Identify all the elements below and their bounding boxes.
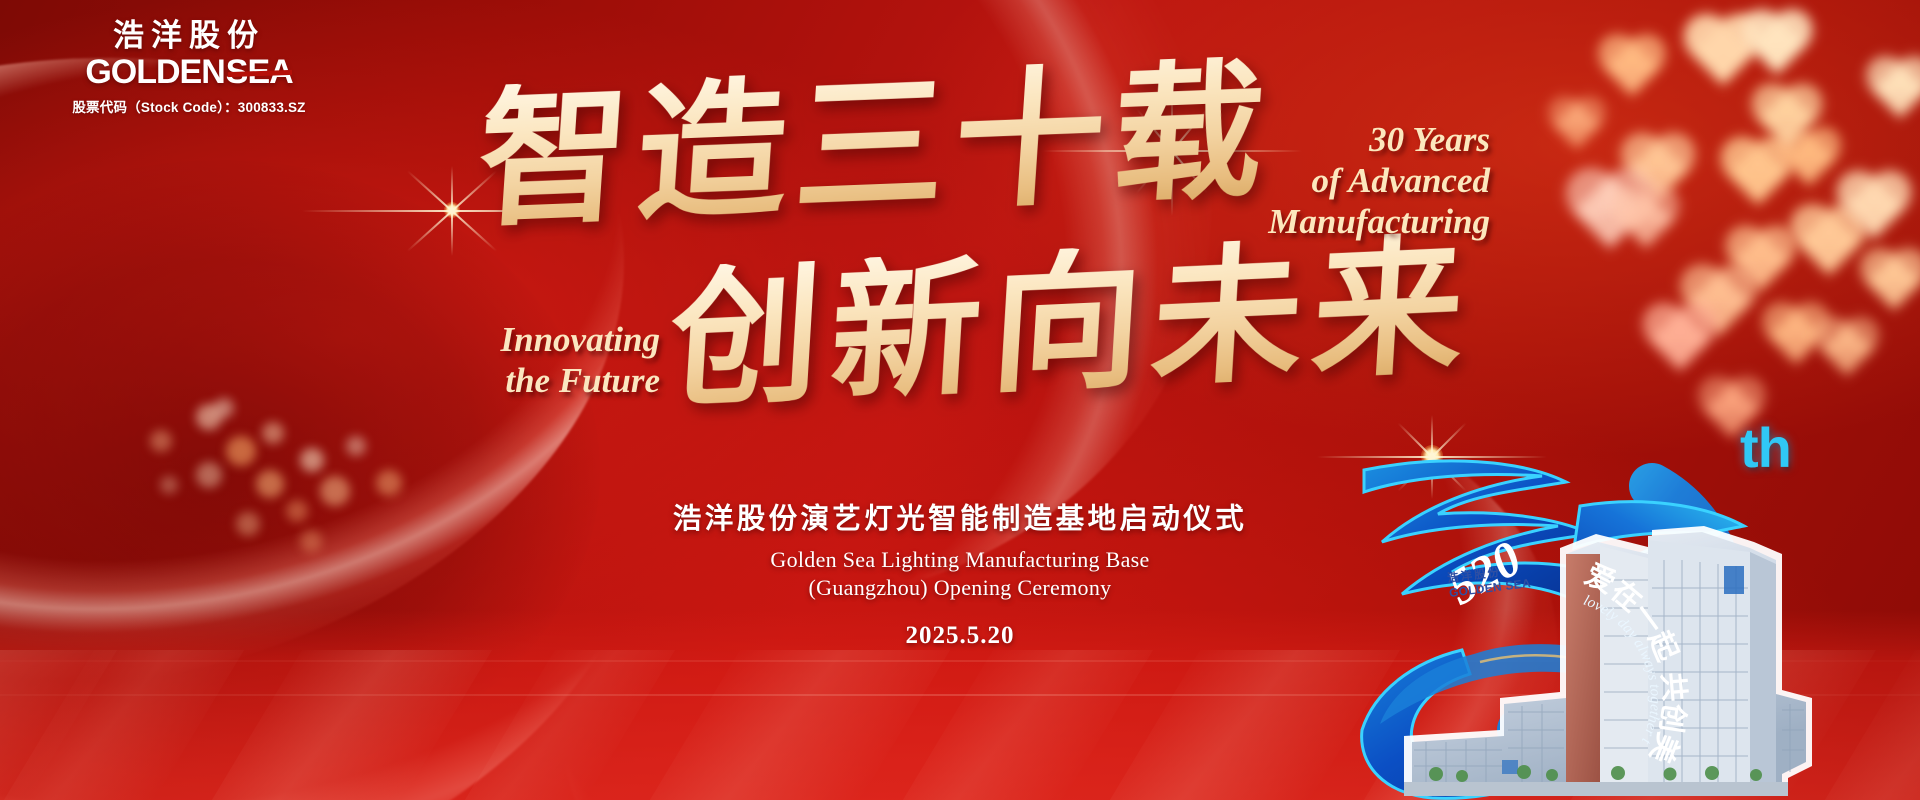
subtitle-cn: 浩洋股份演艺灯光智能制造基地启动仪式 bbox=[560, 504, 1360, 535]
subtitle-block: 浩洋股份演艺灯光智能制造基地启动仪式 Golden Sea Lighting M… bbox=[560, 504, 1360, 650]
subtitle-en-line-2: (Guangzhou) Opening Ceremony bbox=[560, 574, 1360, 602]
headline-line-2: 创新向未来 bbox=[666, 230, 1478, 416]
english-right-line-1: 30 Years bbox=[1190, 120, 1490, 161]
subtitle-en: Golden Sea Lighting Manufacturing Base (… bbox=[560, 546, 1360, 602]
logo-sea-text: SEA bbox=[226, 55, 293, 89]
background-vignette-blob bbox=[0, 160, 600, 780]
event-date: 2025.5.20 bbox=[560, 622, 1360, 650]
english-right-line-3: Manufacturing bbox=[1190, 202, 1490, 243]
english-left-line-1: Innovating bbox=[400, 320, 660, 361]
emblem-artwork: 爱在一起 共创美好明天 lovely day always together t… bbox=[1352, 430, 1912, 800]
logo-company-name-cn: 浩洋股份 bbox=[44, 20, 334, 51]
headline-english-right: 30 Years of Advanced Manufacturing bbox=[1190, 120, 1490, 243]
ordinal-suffix-th: th bbox=[1740, 420, 1791, 476]
logo-golden-text: GOLDEN bbox=[85, 55, 224, 89]
headline-line-1: 智造三十载 bbox=[474, 55, 1277, 235]
logo-company-name-en: GOLDEN SEA bbox=[44, 55, 334, 89]
anniversary-emblem: 爱在一起 共创美好明天 lovely day always together t… bbox=[1352, 430, 1912, 800]
headline-english-left: Innovating the Future bbox=[400, 320, 660, 402]
subtitle-en-line-1: Golden Sea Lighting Manufacturing Base bbox=[560, 546, 1360, 574]
company-logo[interactable]: 浩洋股份 GOLDEN SEA 股票代码（Stock Code）：300833.… bbox=[44, 20, 334, 116]
poster-canvas: 浩洋股份 GOLDEN SEA 股票代码（Stock Code）：300833.… bbox=[0, 0, 1920, 800]
stock-code-label: 股票代码（Stock Code）：300833.SZ bbox=[44, 96, 334, 116]
english-left-line-2: the Future bbox=[400, 361, 660, 402]
english-right-line-2: of Advanced bbox=[1190, 161, 1490, 202]
